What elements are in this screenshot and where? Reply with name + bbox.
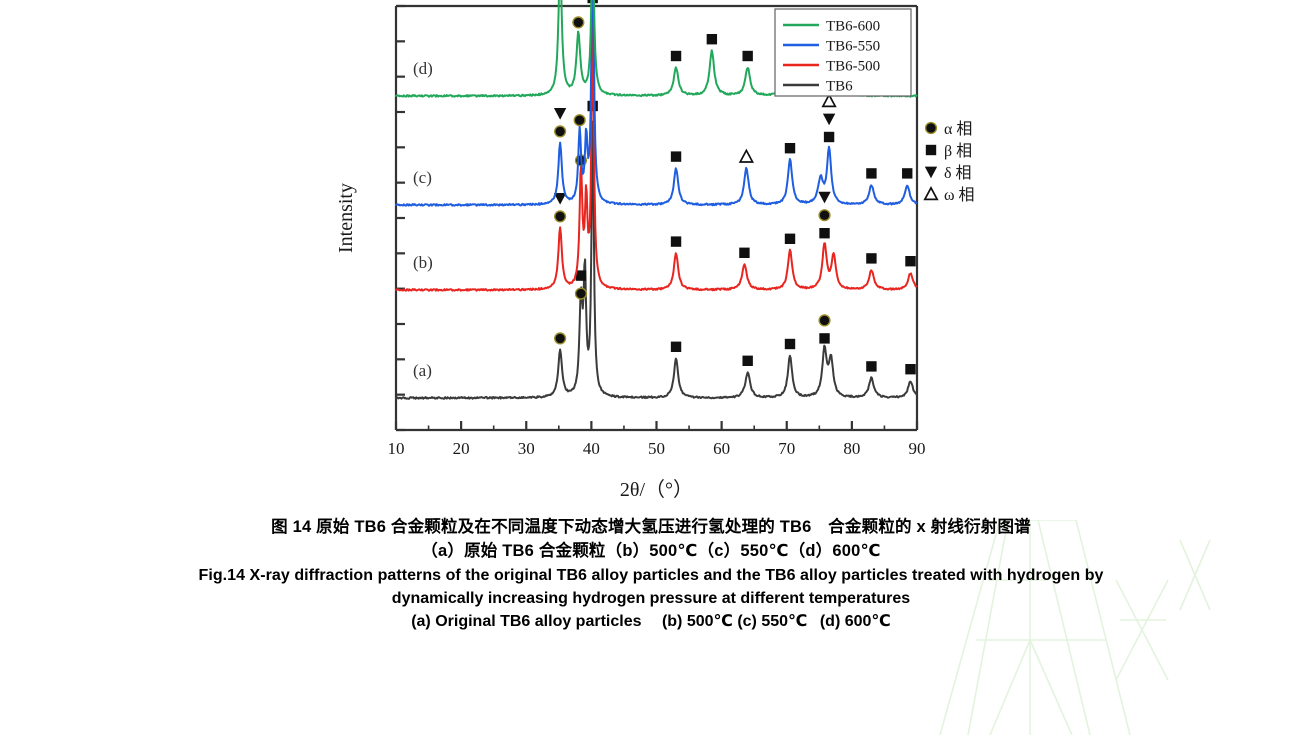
beta-phase-marker-icon [866,361,876,371]
alpha-phase-marker-icon [555,126,566,137]
beta-phase-marker-icon [905,364,915,374]
y-axis-title: Intensity [335,183,357,253]
caption-line-en-3: (a) Original TB6 alloy particles (b) 500… [0,610,1302,633]
beta-phase-marker-icon [671,51,681,61]
x-axis-title: 2θ/（°） [620,478,693,501]
beta-phase-marker-icon [742,356,752,366]
delta-phase-marker-icon [925,167,937,179]
figure-caption: 图 14 原始 TB6 合金颗粒及在不同温度下动态增大氢压进行氢处理的 TB6 … [0,516,1302,633]
legend-label-tb6-600: TB6-600 [826,19,880,35]
alpha-phase-marker-icon [555,333,566,344]
x-tick-label: 20 [453,439,470,458]
alpha-phase-marker-icon [555,211,566,222]
curve-legend: TB6-600TB6-550TB6-500TB6 [775,9,911,96]
beta-phase-marker-icon [902,168,912,178]
alpha-phase-marker-icon [574,115,585,126]
beta-phase-marker-icon [785,143,795,153]
beta-phase-marker-icon [587,101,597,111]
panel-label-c: (c) [413,168,432,187]
beta-phase-marker-icon [785,234,795,244]
xrd-plot: 1020304050607080902θ/（°）Intensity(a)(b)(… [0,0,1302,520]
x-tick-label: 30 [518,439,535,458]
caption-line-en-1: Fig.14 X-ray diffraction patterns of the… [0,564,1302,587]
delta-phase-marker-icon [554,108,566,120]
beta-phase-marker-icon [824,132,834,142]
beta-phase-marker-icon [671,342,681,352]
caption-line-cn-1: 图 14 原始 TB6 合金颗粒及在不同温度下动态增大氢压进行氢处理的 TB6 … [0,516,1302,540]
phase-legend-label: β 相 [944,142,972,160]
beta-phase-marker-icon [819,228,829,238]
delta-phase-marker-icon [823,114,835,126]
delta-phase-marker-icon [818,192,830,204]
x-tick-label: 40 [583,439,600,458]
beta-phase-marker-icon [742,51,752,61]
panel-label-a: (a) [413,361,432,380]
x-tick-label: 50 [648,439,665,458]
legend-label-tb6-500: TB6-500 [826,59,880,75]
beta-phase-marker-icon [707,34,717,44]
phase-markers [554,95,913,179]
legend-label-tb6-550: TB6-550 [826,39,880,55]
omega-phase-marker-icon [925,188,937,200]
alpha-phase-marker-icon [819,210,830,221]
beta-phase-marker-icon [671,236,681,246]
alpha-phase-marker-icon [819,315,830,326]
phase-legend-label: α 相 [944,120,972,138]
xrd-trace-tb6: (a) [396,101,916,399]
beta-phase-marker-icon [905,256,915,266]
x-tick-label: 70 [778,439,795,458]
beta-phase-marker-icon [866,168,876,178]
caption-line-en-2: dynamically increasing hydrogen pressure… [0,587,1302,610]
panel-label-d: (d) [413,59,433,78]
omega-phase-marker-icon [740,150,752,162]
x-tick-label: 60 [713,439,730,458]
x-tick-label: 10 [388,439,405,458]
beta-phase-marker-icon [866,253,876,263]
alpha-phase-marker-icon [926,123,937,134]
phase-legend: α 相β 相δ 相ω 相 [925,120,975,204]
alpha-phase-marker-icon [576,288,587,299]
x-axis-ticks: 102030405060708090 [388,421,926,458]
phase-legend-label: ω 相 [944,186,975,204]
y-axis-ticks [396,6,405,430]
phase-markers [555,101,916,375]
xrd-curve [396,122,916,399]
beta-phase-marker-icon [671,151,681,161]
beta-phase-marker-icon [739,248,749,258]
beta-phase-marker-icon [926,145,936,155]
caption-line-cn-2: （a）原始 TB6 合金颗粒（b）500℃（c）550℃（d）600℃ [0,540,1302,564]
panel-label-b: (b) [413,253,433,272]
x-tick-label: 90 [909,439,926,458]
xrd-figure: 1020304050607080902θ/（°）Intensity(a)(b)(… [0,0,1302,520]
beta-phase-marker-icon [819,333,829,343]
beta-phase-marker-icon [785,339,795,349]
alpha-phase-marker-icon [573,17,584,28]
phase-legend-label: δ 相 [944,164,972,182]
x-tick-label: 80 [843,439,860,458]
legend-label-tb6: TB6 [826,79,853,95]
